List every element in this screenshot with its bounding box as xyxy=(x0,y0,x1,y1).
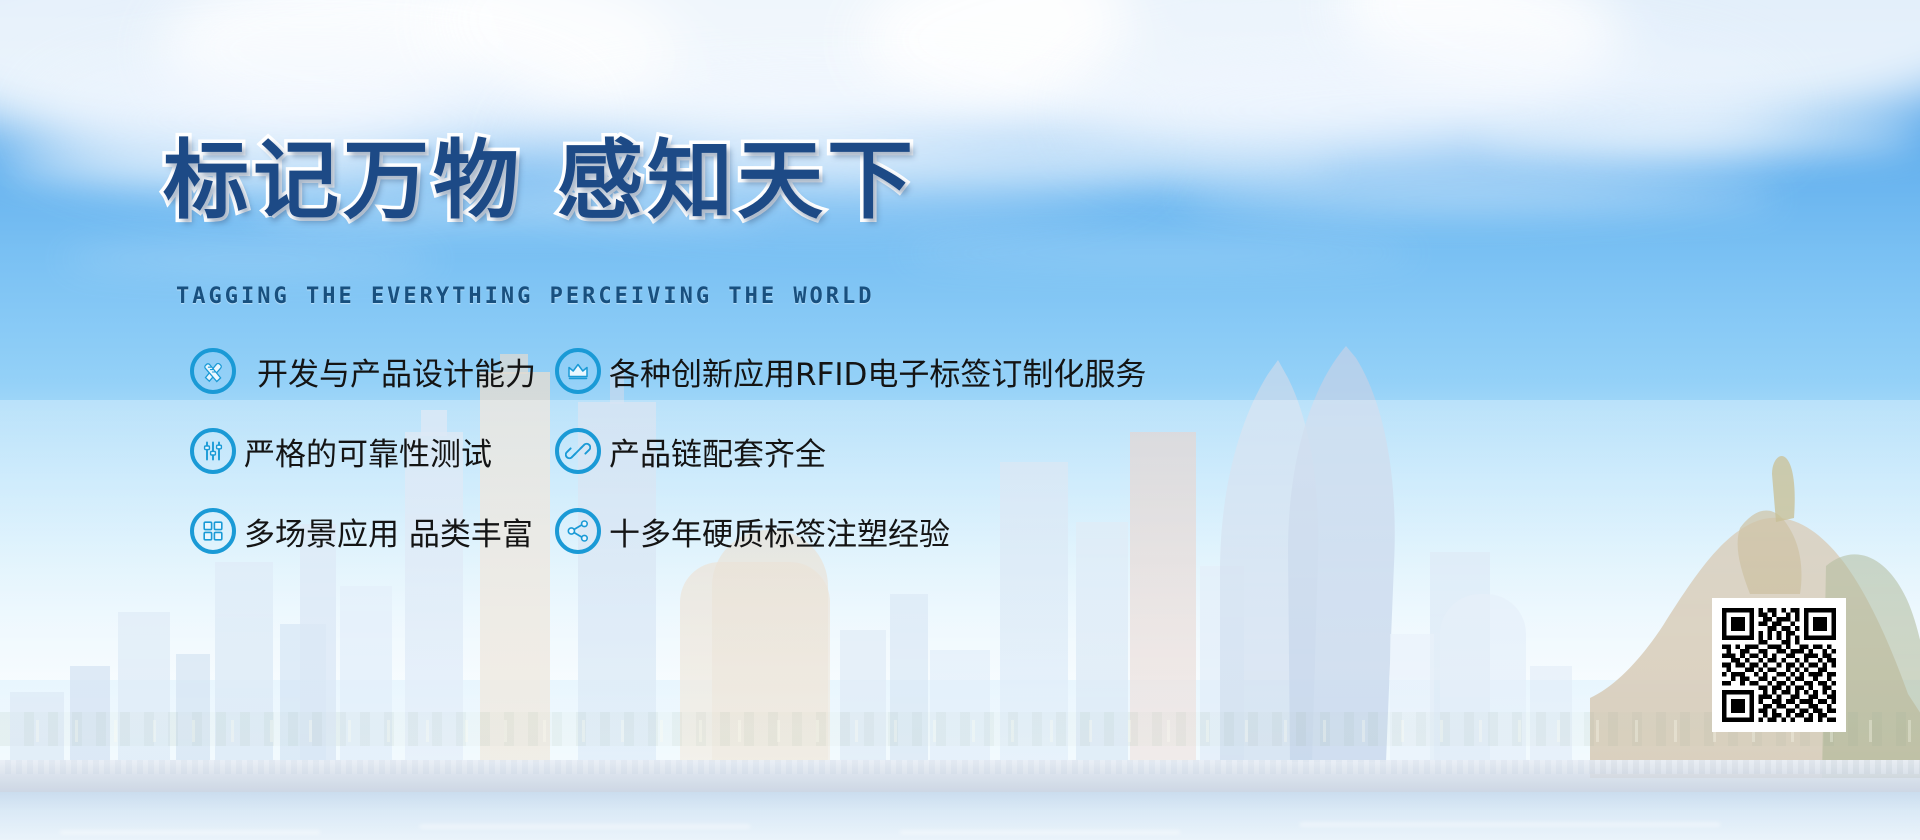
ruler-pencil-icon xyxy=(190,348,236,394)
crown-icon xyxy=(555,348,601,394)
feature-label: 严格的可靠性测试 xyxy=(244,429,492,474)
feature-item-reliability-test[interactable]: 严格的可靠性测试 xyxy=(190,428,555,474)
feature-item-product-chain[interactable]: 产品链配套齐全 xyxy=(555,428,826,474)
feature-row: 开发与产品设计能力 各种创新应用RFID电子标签订制化服务 xyxy=(190,348,1490,428)
feature-item-rfid-service[interactable]: 各种创新应用RFID电子标签订制化服务 xyxy=(555,348,1146,394)
feature-label: 开发与产品设计能力 xyxy=(257,349,536,394)
feature-item-multi-scenario[interactable]: 多场景应用 品类丰富 xyxy=(190,508,555,554)
feature-list: 开发与产品设计能力 各种创新应用RFID电子标签订制化服务 xyxy=(190,348,1490,588)
water xyxy=(0,792,1920,840)
sliders-icon xyxy=(190,428,236,474)
feature-item-molding-experience[interactable]: 十多年硬质标签注塑经验 xyxy=(555,508,950,554)
qr-code xyxy=(1722,608,1836,722)
page-subtitle: TAGGING THE EVERYTHING PERCEIVING THE WO… xyxy=(176,284,875,309)
grid-squares-icon xyxy=(190,508,236,554)
feature-item-development[interactable]: 开发与产品设计能力 xyxy=(190,348,555,394)
feature-label: 产品链配套齐全 xyxy=(609,429,826,474)
page-title: 标记万物 感知天下 xyxy=(163,138,917,224)
feature-row: 多场景应用 品类丰富 十多年硬质标签注塑经验 xyxy=(190,508,1490,588)
feature-row: 严格的可靠性测试 产品链配套齐全 xyxy=(190,428,1490,508)
chain-link-icon xyxy=(555,428,601,474)
feature-label: 十多年硬质标签注塑经验 xyxy=(609,509,950,554)
promenade xyxy=(0,760,1920,794)
feature-label: 多场景应用 品类丰富 xyxy=(244,509,533,554)
feature-label: 各种创新应用RFID电子标签订制化服务 xyxy=(609,349,1146,394)
banner-root: 标记万物 感知天下 TAGGING THE EVERYTHING PERCEIV… xyxy=(0,0,1920,840)
share-nodes-icon xyxy=(555,508,601,554)
balustrade xyxy=(0,760,1920,774)
qr-code-container[interactable] xyxy=(1712,598,1846,732)
